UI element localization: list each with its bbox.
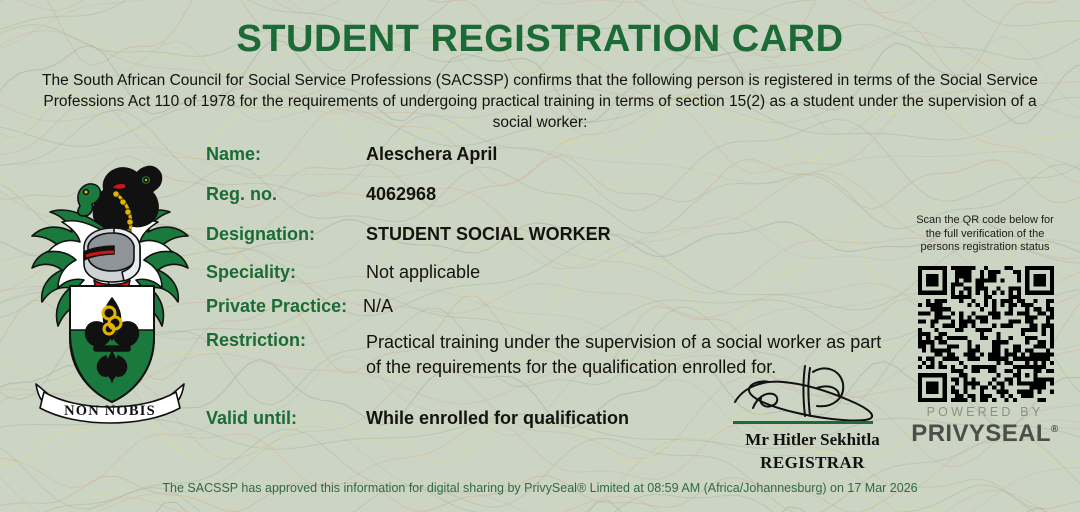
privyseal-brand: PRIVYSEAL®: [900, 420, 1070, 448]
coat-of-arms-emblem: NON NOBIS: [18, 140, 202, 425]
qr-instruction-line-3: persons registration status: [900, 241, 1070, 255]
field-label: Name:: [206, 144, 261, 165]
field-value: N/A: [363, 296, 393, 317]
field-label: Valid until:: [206, 408, 297, 429]
qr-instruction-line-2: the full verification of the: [900, 228, 1070, 242]
qr-code-icon[interactable]: [918, 266, 1054, 402]
page-title: STUDENT REGISTRATION CARD: [0, 18, 1080, 61]
field-value: 4062968: [366, 184, 436, 205]
field-label: Designation:: [206, 224, 315, 245]
qr-instruction-line-1: Scan the QR code below for: [900, 214, 1070, 228]
trademark-symbol: ®: [1051, 424, 1059, 435]
privyseal-wordmark: PRIVYSEAL: [911, 420, 1051, 447]
registrar-role: REGISTRAR: [705, 453, 920, 473]
field-value: STUDENT SOCIAL WORKER: [366, 224, 611, 245]
signature-block: Mr Hitler Sekhitla REGISTRAR: [705, 360, 920, 422]
signature-area: [705, 360, 920, 422]
qr-code[interactable]: [918, 266, 1054, 402]
field-label: Speciality:: [206, 262, 296, 283]
field-label: Restriction:: [206, 330, 306, 351]
signature-rule: [733, 421, 873, 424]
emblem-motto: NON NOBIS: [64, 403, 156, 419]
field-label: Reg. no.: [206, 184, 277, 205]
powered-by-label: POWERED BY: [900, 405, 1070, 419]
intro-paragraph: The South African Council for Social Ser…: [30, 70, 1050, 133]
field-value: Aleschera April: [366, 144, 497, 165]
qr-instruction: Scan the QR code below for the full veri…: [900, 214, 1070, 255]
field-label: Private Practice:: [206, 296, 347, 317]
registrar-name: Mr Hitler Sekhitla: [705, 430, 920, 450]
field-value: While enrolled for qualification: [366, 408, 629, 429]
field-value: Not applicable: [366, 262, 480, 283]
footer-approval-text: The SACSSP has approved this information…: [0, 481, 1080, 495]
signature-icon: [713, 358, 913, 424]
registration-card: STUDENT REGISTRATION CARD The South Afri…: [0, 0, 1080, 512]
